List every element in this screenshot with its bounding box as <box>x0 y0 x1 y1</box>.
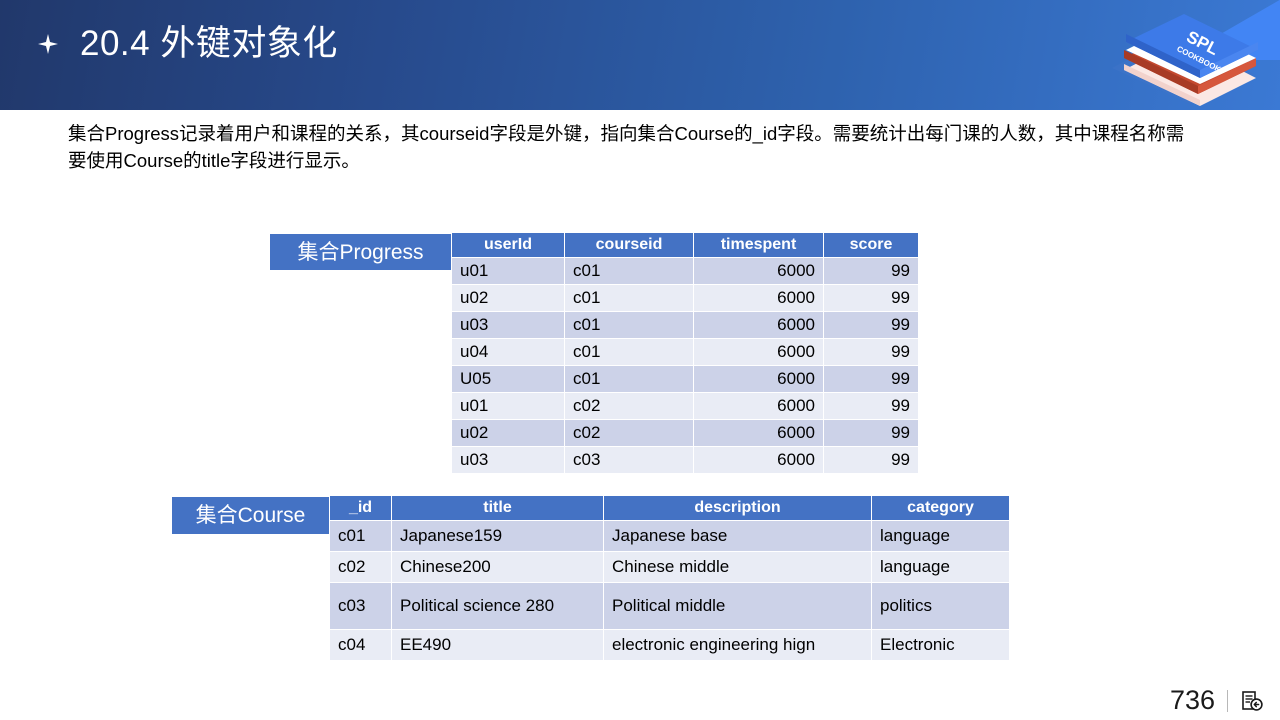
cell-timespent: 6000 <box>694 447 824 474</box>
table-row: c03 Political science 280 Political midd… <box>330 583 1010 630</box>
cell-timespent: 6000 <box>694 258 824 285</box>
cell-userid: u02 <box>452 285 565 312</box>
footer-divider <box>1227 690 1228 712</box>
table-row: u01 c01 6000 99 <box>452 258 919 285</box>
page-title: 20.4 外键对象化 <box>80 26 338 61</box>
cell-score: 99 <box>824 420 919 447</box>
cell-timespent: 6000 <box>694 285 824 312</box>
cell-score: 99 <box>824 258 919 285</box>
cell-category: language <box>872 521 1010 552</box>
cell-courseid: c03 <box>565 447 694 474</box>
slide-title-row: 20.4 外键对象化 <box>38 26 338 61</box>
column-header-courseid: courseid <box>565 233 694 258</box>
cell-score: 99 <box>824 393 919 420</box>
column-header-score: score <box>824 233 919 258</box>
cell-title: EE490 <box>392 630 604 661</box>
cell-description: Political middle <box>604 583 872 630</box>
cell-courseid: c02 <box>565 420 694 447</box>
cell-id: c02 <box>330 552 392 583</box>
cell-courseid: c01 <box>565 258 694 285</box>
page-number: 736 <box>1170 687 1215 714</box>
table-row: u04 c01 6000 99 <box>452 339 919 366</box>
table-row: u02 c01 6000 99 <box>452 285 919 312</box>
cell-title: Chinese200 <box>392 552 604 583</box>
document-back-icon[interactable] <box>1240 689 1264 713</box>
table-row: c01 Japanese159 Japanese base language <box>330 521 1010 552</box>
body-paragraph: 集合Progress记录着用户和课程的关系，其courseid字段是外键，指向集… <box>68 120 1200 174</box>
column-header-userid: userId <box>452 233 565 258</box>
cell-userid: u02 <box>452 420 565 447</box>
cell-score: 99 <box>824 339 919 366</box>
cell-userid: u03 <box>452 447 565 474</box>
cell-courseid: c01 <box>565 366 694 393</box>
progress-dataset-label: 集合Progress <box>270 234 451 270</box>
cell-id: c03 <box>330 583 392 630</box>
cell-courseid: c01 <box>565 312 694 339</box>
course-dataset-label: 集合Course <box>172 497 329 534</box>
cell-courseid: c02 <box>565 393 694 420</box>
cell-timespent: 6000 <box>694 366 824 393</box>
book-stack-icon: SPL COOKBOOK <box>1104 8 1274 108</box>
cell-userid: u04 <box>452 339 565 366</box>
column-header-title: title <box>392 496 604 521</box>
cell-category: language <box>872 552 1010 583</box>
table-header-row: _id title description category <box>330 496 1010 521</box>
cell-timespent: 6000 <box>694 420 824 447</box>
cell-description: Japanese base <box>604 521 872 552</box>
slide-header-band: 20.4 外键对象化 SPL COOKBOOK <box>0 0 1280 110</box>
cell-score: 99 <box>824 366 919 393</box>
table-row: U05 c01 6000 99 <box>452 366 919 393</box>
cell-userid: u01 <box>452 393 565 420</box>
cell-id: c04 <box>330 630 392 661</box>
cell-timespent: 6000 <box>694 393 824 420</box>
table-row: c02 Chinese200 Chinese middle language <box>330 552 1010 583</box>
column-header-timespent: timespent <box>694 233 824 258</box>
cell-timespent: 6000 <box>694 339 824 366</box>
cell-category: politics <box>872 583 1010 630</box>
progress-table: userId courseid timespent score u01 c01 … <box>451 232 919 474</box>
course-table: _id title description category c01 Japan… <box>329 495 1010 661</box>
cell-score: 99 <box>824 312 919 339</box>
column-header-id: _id <box>330 496 392 521</box>
cell-courseid: c01 <box>565 285 694 312</box>
column-header-description: description <box>604 496 872 521</box>
cell-category: Electronic <box>872 630 1010 661</box>
cell-timespent: 6000 <box>694 312 824 339</box>
table-row: c04 EE490 electronic engineering hign El… <box>330 630 1010 661</box>
sparkle-icon <box>38 34 58 54</box>
cell-courseid: c01 <box>565 339 694 366</box>
cell-title: Political science 280 <box>392 583 604 630</box>
cell-title: Japanese159 <box>392 521 604 552</box>
table-row: u03 c03 6000 99 <box>452 447 919 474</box>
cell-description: electronic engineering hign <box>604 630 872 661</box>
cell-userid: u03 <box>452 312 565 339</box>
table-row: u02 c02 6000 99 <box>452 420 919 447</box>
table-row: u01 c02 6000 99 <box>452 393 919 420</box>
table-header-row: userId courseid timespent score <box>452 233 919 258</box>
cell-score: 99 <box>824 285 919 312</box>
cell-score: 99 <box>824 447 919 474</box>
cell-description: Chinese middle <box>604 552 872 583</box>
table-row: u03 c01 6000 99 <box>452 312 919 339</box>
spl-cookbook-logo: SPL COOKBOOK <box>1104 8 1274 108</box>
column-header-category: category <box>872 496 1010 521</box>
cell-userid: U05 <box>452 366 565 393</box>
cell-userid: u01 <box>452 258 565 285</box>
slide-footer: 736 <box>1170 687 1264 714</box>
cell-id: c01 <box>330 521 392 552</box>
